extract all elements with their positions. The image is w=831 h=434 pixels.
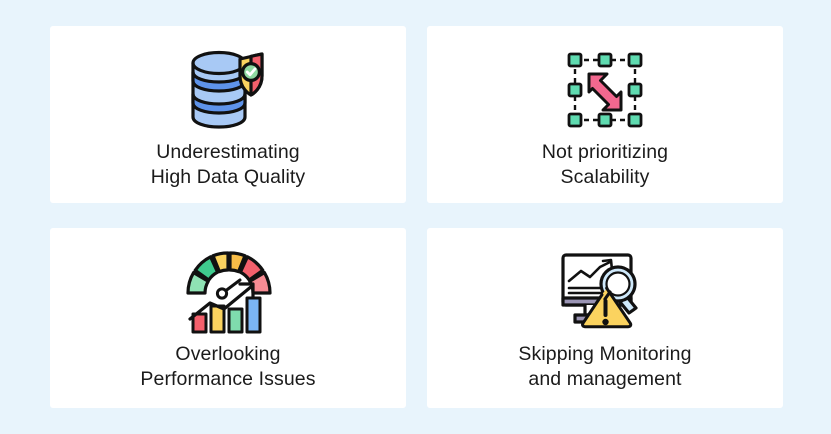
database-shield-icon xyxy=(180,46,276,134)
card-underestimating-high-data-quality[interactable]: Underestimating High Data Quality xyxy=(50,26,406,203)
card-overlooking-performance-issues[interactable]: Overlooking Performance Issues xyxy=(50,228,406,408)
gauge-bar-chart-icon xyxy=(180,248,276,336)
scalability-resize-arrow-icon xyxy=(557,46,653,134)
card-skipping-monitoring-and-management[interactable]: Skipping Monitoring and management xyxy=(427,228,783,408)
slide-canvas: Underestimating High Data Quality xyxy=(0,0,831,434)
card-not-prioritizing-scalability[interactable]: Not prioritizing Scalability xyxy=(427,26,783,203)
card-label: Underestimating High Data Quality xyxy=(151,140,306,190)
card-grid: Underestimating High Data Quality xyxy=(50,26,783,408)
card-label: Skipping Monitoring and management xyxy=(518,342,691,392)
monitor-magnifier-warning-icon xyxy=(557,248,653,336)
card-label: Not prioritizing Scalability xyxy=(542,140,668,190)
card-label: Overlooking Performance Issues xyxy=(140,342,315,392)
